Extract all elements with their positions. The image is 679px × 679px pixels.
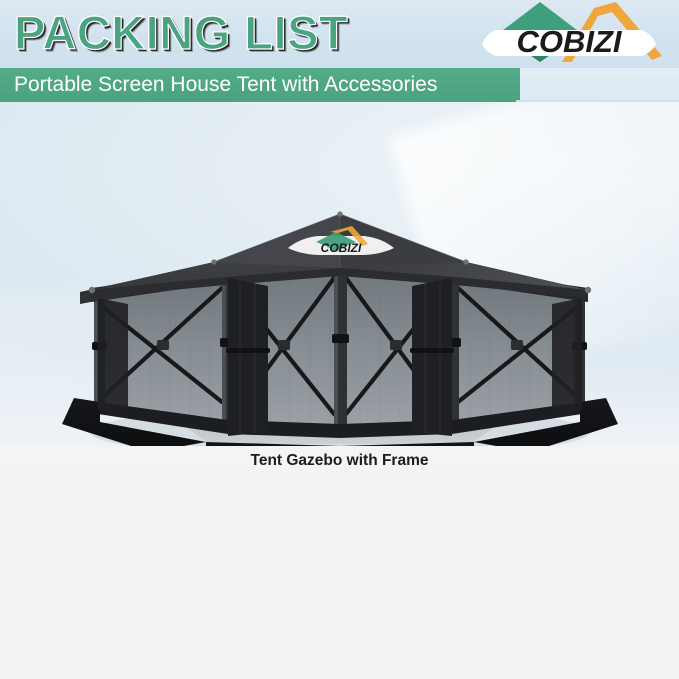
packing-list-page: PACKING LIST COBIZI Portable Screen Hous… — [0, 0, 679, 679]
cobizi-logo-text: COBIZI — [516, 24, 622, 59]
subtitle-bar: Portable Screen House Tent with Accessor… — [0, 68, 520, 100]
subtitle-bar-filler — [520, 68, 679, 100]
page-title: PACKING LIST — [14, 5, 348, 61]
accessories-section: A 2PCS B 10PCS C 1PCS D 1PC E 1PC User G… — [0, 468, 679, 679]
header-banner: PACKING LIST COBIZI — [0, 0, 679, 68]
canopy-brand-text: COBIZI — [321, 241, 362, 255]
cobizi-logo: COBIZI — [466, 0, 672, 66]
gazebo-illustration: COBIZI — [0, 102, 679, 462]
subtitle-text: Portable Screen House Tent with Accessor… — [14, 71, 437, 98]
hero-product-photo: COBIZI — [0, 102, 679, 462]
